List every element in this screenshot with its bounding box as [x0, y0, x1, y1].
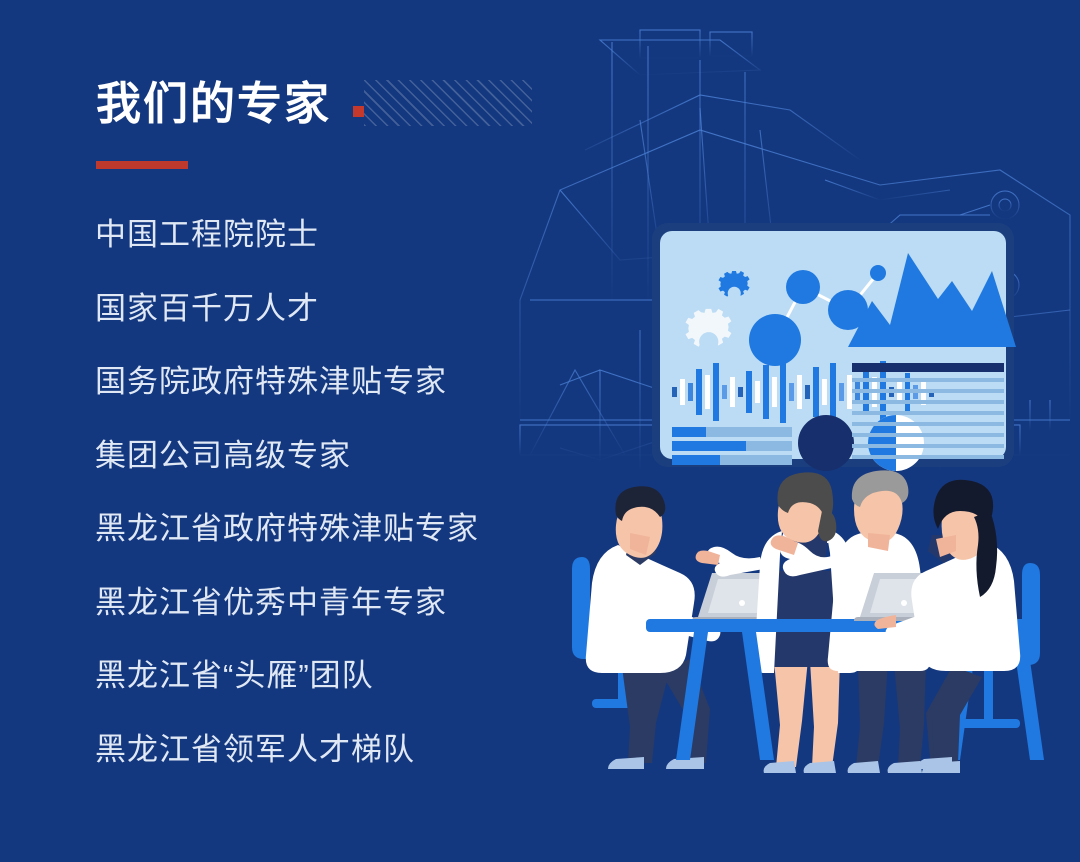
- page-title-row: 我们的专家: [96, 74, 532, 134]
- expert-list: 中国工程院院士 国家百千万人才 国务院政府特殊津贴专家 集团公司高级专家 黑龙江…: [95, 198, 615, 786]
- list-item: 集团公司高级专家: [95, 419, 615, 493]
- list-item: 国务院政府特殊津贴专家: [95, 345, 615, 419]
- progress-bars: [672, 427, 792, 465]
- list-item: 黑龙江省“头雁”团队: [95, 639, 615, 713]
- page-title: 我们的专家: [96, 74, 331, 134]
- list-item: 国家百千万人才: [95, 272, 615, 346]
- list-item: 黑龙江省政府特殊津贴专家: [95, 492, 615, 566]
- diagonal-stripe-block: [364, 80, 532, 126]
- red-square-accent-icon: [353, 106, 364, 117]
- title-underline: [96, 161, 188, 169]
- donut-circle-dark: [798, 415, 854, 471]
- team-illustration: [560, 215, 1080, 775]
- list-item: 中国工程院院士: [95, 198, 615, 272]
- poster-canvas: 我们的专家 中国工程院院士 国家百千万人才 国务院政府特殊津贴专家 集团公司高级…: [0, 0, 1080, 862]
- analytics-dashboard-screen: [652, 223, 1016, 471]
- list-item: 黑龙江省领军人才梯队: [95, 713, 615, 787]
- list-item: 黑龙江省优秀中青年专家: [95, 566, 615, 640]
